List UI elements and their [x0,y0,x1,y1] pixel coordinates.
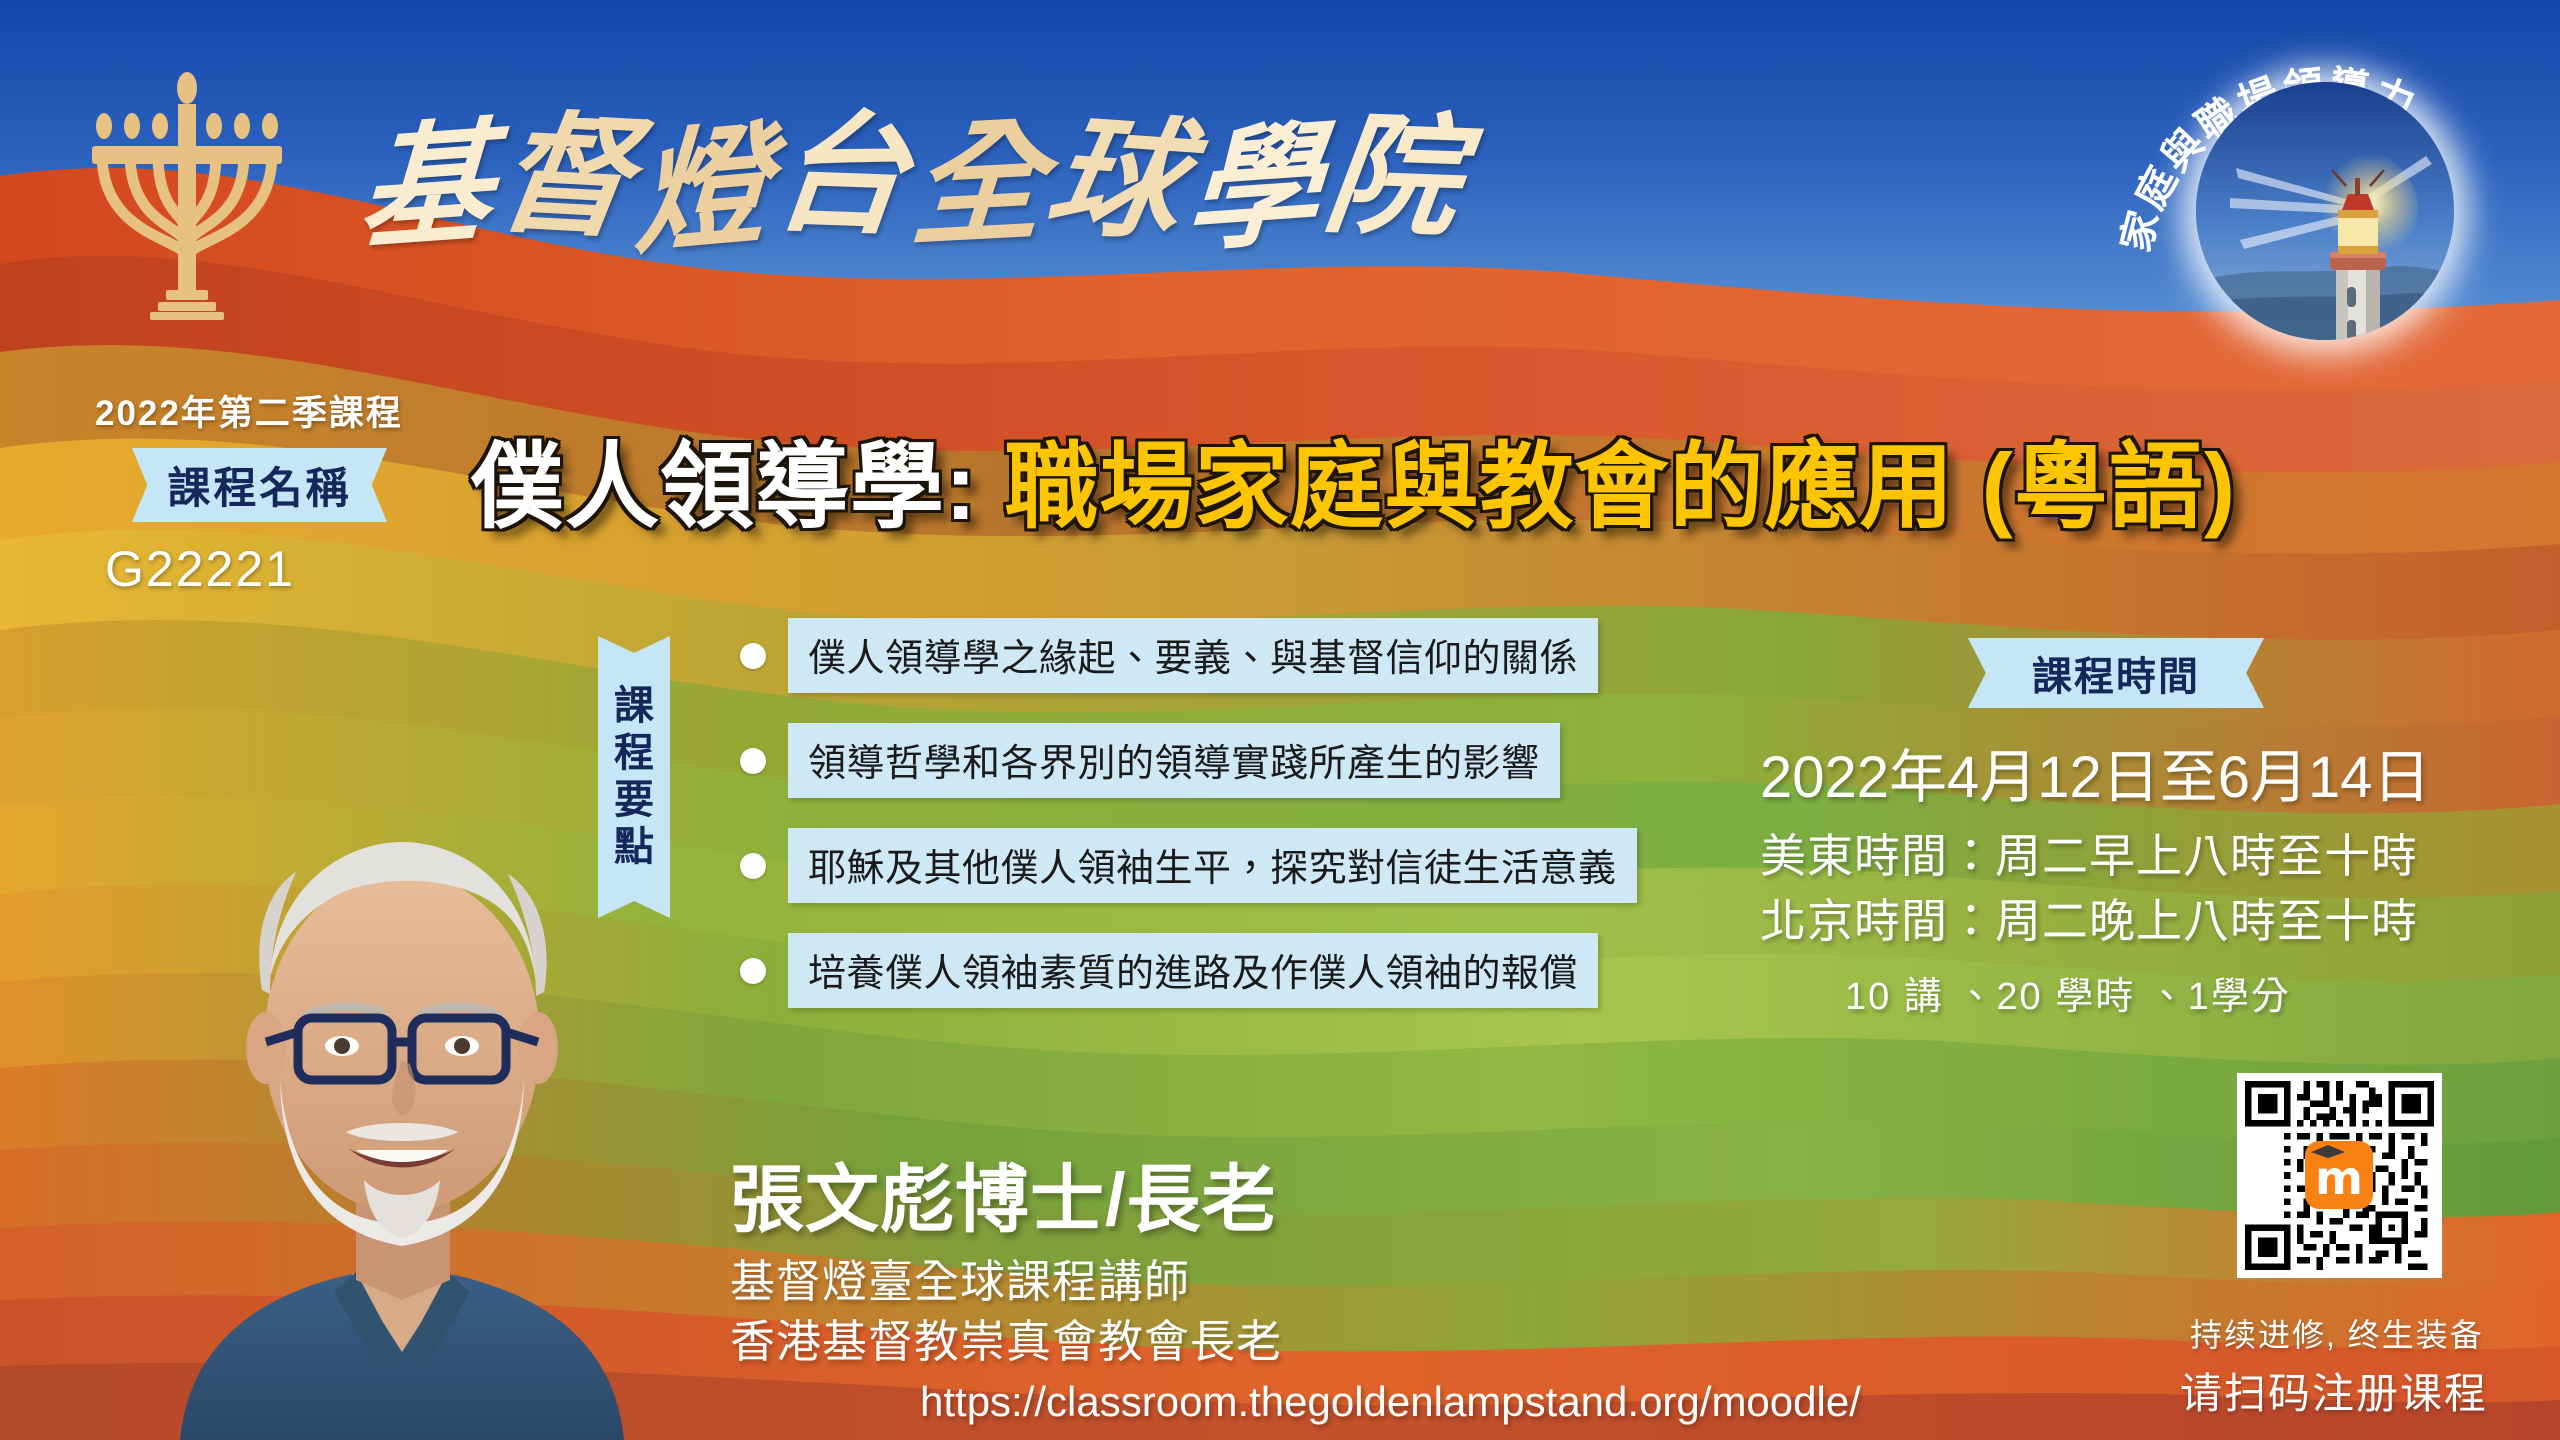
bullet-dot-icon [740,853,766,879]
list-item: 耶穌及其他僕人領袖生平，探究對信徒生活意義 [740,828,1760,903]
presenter-portrait [120,780,680,1440]
schedule-timezone-east: 美東時間：周二早上八時至十時 [1760,820,2418,886]
season-label: 2022年第二季課程 [95,385,403,436]
key-points-list: 僕人領導學之緣起、要義、與基督信仰的關係 領導哲學和各界別的領導實踐所產生的影響… [740,618,1760,1038]
brand-char-2: 督 [489,108,639,246]
presenter-role-1: 基督燈臺全球課程講師 [730,1245,1190,1310]
brand-char-7: 學 [1183,118,1324,260]
lighthouse-badge: 家庭與職場領導力 [2110,20,2540,350]
key-point-text-1: 僕人領導學之緣起、要義、與基督信仰的關係 [788,618,1598,693]
qr-tagline-1: 持续进修, 终生装备 [2190,1310,2484,1356]
schedule-timezone-beijing: 北京時間：周二晚上八時至十時 [1760,885,2418,951]
key-point-text-4: 培養僕人領袖素質的進路及作僕人領袖的報償 [788,933,1598,1008]
bullet-dot-icon [740,643,766,669]
key-point-text-3: 耶穌及其他僕人領袖生平，探究對信徒生活意義 [788,828,1637,903]
list-item: 領導哲學和各界別的領導實踐所產生的影響 [740,723,1760,798]
brand-char-3: 燈 [632,119,770,264]
title-part-gold: 職場家庭與教會的應用 (粵語) [1004,434,2236,539]
brand-char-6: 球 [1039,109,1194,249]
schedule-ribbon: 課程時間 [1968,638,2264,708]
key-points-char-2: 程 [614,730,654,777]
list-item: 僕人領導學之緣起、要義、與基督信仰的關係 [740,618,1760,693]
course-code: G22221 [105,540,295,598]
brand-title-calligraphy: 基 督 燈 台 全 球 學 院 [360,86,1560,276]
schedule-dates: 2022年4月12日至6月14日 [1760,730,2431,814]
schedule-label: 課程時間 [2032,644,2200,702]
brand-char-5: 全 [907,115,1048,255]
list-item: 培養僕人領袖素質的進路及作僕人領袖的報償 [740,933,1760,1008]
course-name-ribbon: 課程名稱 [132,448,387,522]
bullet-dot-icon [740,958,766,984]
presenter-name: 張文彪博士/長老 [730,1140,1277,1247]
page-title: 僕人領導學: 職場家庭與教會的應用 (粵語) [470,440,2236,534]
schedule-credits: 10 講 、20 學時 、1學分 [1845,965,2291,1020]
brand-char-4: 台 [768,107,914,243]
course-url[interactable]: https://classroom.thegoldenlampstand.org… [920,1378,1861,1426]
brand-char-1: 基 [356,116,495,258]
brand-char-8: 院 [1318,109,1466,245]
key-point-text-2: 領導哲學和各界別的領導實踐所產生的影響 [788,723,1560,798]
title-part-white: 僕人領導學: [470,434,977,539]
lighthouse-icon [2196,82,2454,340]
presenter-role-2: 香港基督教崇真會教會長老 [730,1305,1282,1370]
qr-tagline-2: 请扫码注册课程 [2180,1360,2488,1421]
moodle-logo-icon: m [2305,1141,2373,1209]
key-points-char-1: 課 [614,683,654,730]
course-poster: 基 督 燈 台 全 球 學 院 家庭與職場領導力 [0,0,2560,1440]
moodle-letter: m [2315,1155,2363,1201]
bullet-dot-icon [740,748,766,774]
course-name-label: 課程名稱 [168,454,352,516]
menorah-icon [62,58,312,320]
